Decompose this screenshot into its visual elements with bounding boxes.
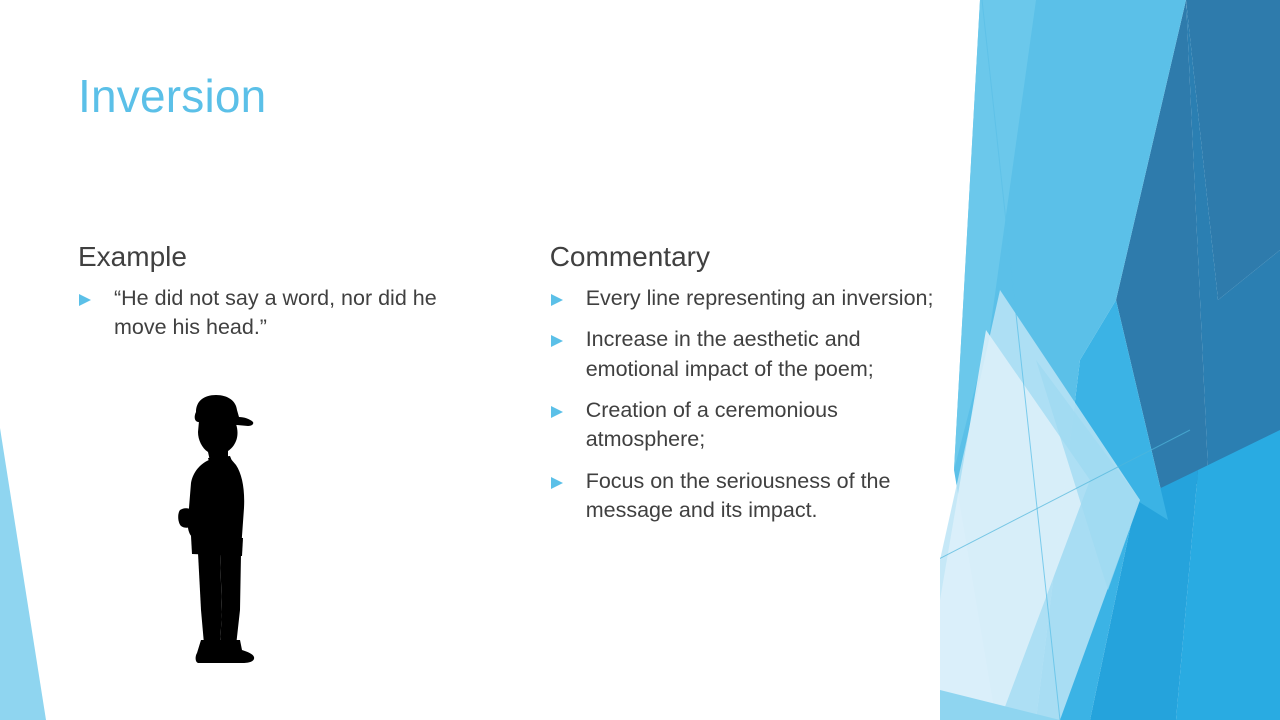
list-item: Focus on the seriousness of the message … xyxy=(550,467,938,526)
list-item: Every line representing an inversion; xyxy=(550,284,938,313)
jacket-hem-shape xyxy=(191,536,243,556)
list-item: “He did not say a word, nor did he move … xyxy=(78,284,486,343)
bullet-text: “He did not say a word, nor did he move … xyxy=(114,284,486,343)
triangle-bullet-icon xyxy=(550,476,564,490)
deco-shape-corner-triangle xyxy=(0,428,46,720)
corner-accent-decoration xyxy=(0,410,90,720)
deco-shape-dark-right xyxy=(1186,0,1280,300)
bullet-text: Every line representing an inversion; xyxy=(586,284,938,313)
cap-shape xyxy=(195,395,254,426)
soldier-silhouette-image xyxy=(168,388,280,668)
commentary-column: Commentary Every line representing an in… xyxy=(550,240,938,538)
deco-shape-dark-wedge xyxy=(1116,0,1208,520)
deco-hairline-vertical xyxy=(982,0,1060,720)
deco-shape-bright-lower-right-2 xyxy=(1090,470,1198,720)
list-item: Creation of a ceremonious atmosphere; xyxy=(550,396,938,455)
bullet-text: Creation of a ceremonious atmosphere; xyxy=(586,396,938,455)
deco-shape-bottom-light xyxy=(940,690,1060,720)
deco-shape-dark-right-2 xyxy=(1186,0,1280,470)
example-column-heading: Example xyxy=(78,240,486,274)
deco-hairline-diagonal xyxy=(940,430,1190,620)
deco-shape-bright-lower-right xyxy=(1176,430,1280,720)
deco-shape-pale-overlay xyxy=(940,290,1140,720)
list-item: Increase in the aesthetic and emotional … xyxy=(550,325,938,384)
shoe-near-shape xyxy=(216,640,255,663)
triangle-bullet-icon xyxy=(78,293,92,307)
commentary-bullet-list: Every line representing an inversion; In… xyxy=(550,284,938,526)
triangle-bullet-icon xyxy=(550,334,564,348)
head-shape xyxy=(198,421,238,462)
leg-near-shape xyxy=(220,553,241,646)
commentary-column-heading: Commentary xyxy=(550,240,938,274)
triangle-bullet-icon xyxy=(550,293,564,307)
deco-shape-verypale-overlay xyxy=(940,330,1090,720)
deco-shape-pale-tip xyxy=(1036,360,1140,590)
deco-shape-sky-band-light xyxy=(954,0,1036,470)
deco-shape-midblue-band xyxy=(1036,300,1168,720)
angular-blue-banner-decoration xyxy=(940,0,1280,720)
example-bullet-list: “He did not say a word, nor did he move … xyxy=(78,284,486,343)
presentation-slide: Inversion Example “He did not say a word… xyxy=(0,0,1280,720)
triangle-bullet-icon xyxy=(550,405,564,419)
deco-shape-sky-band xyxy=(954,0,1186,720)
hands-shape xyxy=(178,508,194,527)
bullet-text: Increase in the aesthetic and emotional … xyxy=(586,325,938,384)
bullet-text: Focus on the seriousness of the message … xyxy=(586,467,938,526)
torso-shape xyxy=(188,458,244,550)
leg-far-shape xyxy=(198,553,222,644)
example-column: Example “He did not say a word, nor did … xyxy=(78,240,486,538)
slide-title: Inversion xyxy=(78,70,266,123)
